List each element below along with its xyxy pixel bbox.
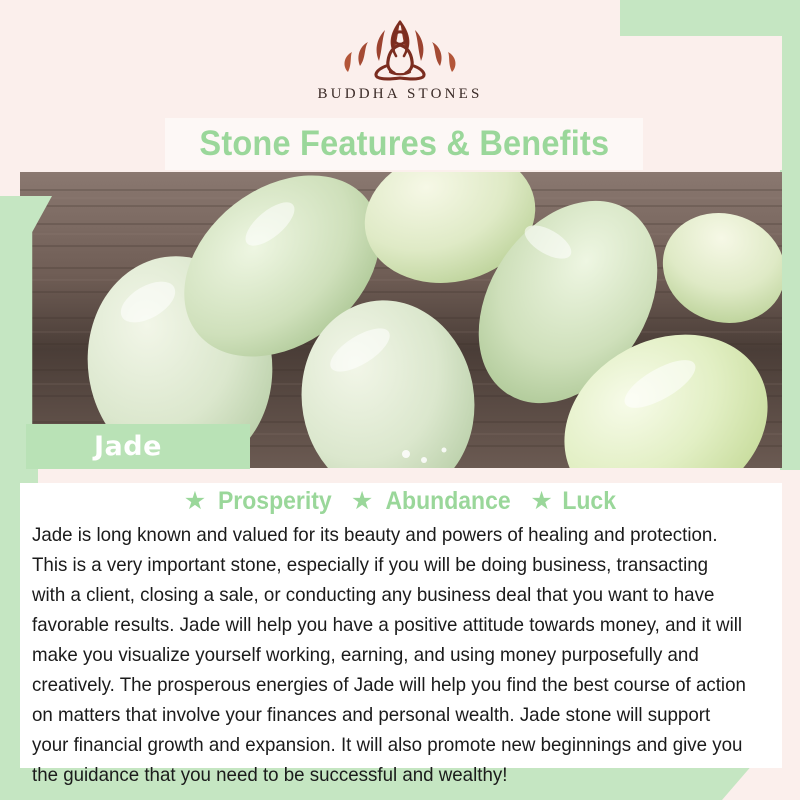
benefits-row: ★ Prosperity ★ Abundance ★ Luck [20, 483, 782, 516]
benefit-item: ★ Abundance [351, 487, 517, 516]
poster-root: BUDDHA STONES Stone Features & Benefits [0, 0, 800, 800]
brand-name: BUDDHA STONES [0, 86, 800, 103]
description-panel: ★ Prosperity ★ Abundance ★ Luck Jade is … [20, 483, 782, 768]
benefit-label: Abundance [386, 487, 511, 516]
page-title: Stone Features & Benefits [199, 124, 609, 164]
star-icon: ★ [530, 489, 552, 514]
star-icon: ★ [351, 489, 373, 514]
lotus-meditation-icon [330, 14, 470, 84]
brand-logo: BUDDHA STONES [0, 14, 800, 103]
stone-name-band: Jade [26, 424, 250, 469]
title-banner: Stone Features & Benefits [165, 118, 643, 170]
benefit-item: ★ Luck [530, 487, 618, 516]
benefit-label: Prosperity [218, 487, 332, 516]
stone-name: Jade [94, 431, 162, 462]
decor-right-strip [780, 170, 800, 470]
benefit-item: ★ Prosperity [184, 487, 337, 516]
star-icon: ★ [184, 489, 206, 514]
poster-header: BUDDHA STONES [0, 0, 800, 120]
benefit-label: Luck [562, 487, 616, 516]
description-text: Jade is long known and valued for its be… [32, 520, 746, 790]
